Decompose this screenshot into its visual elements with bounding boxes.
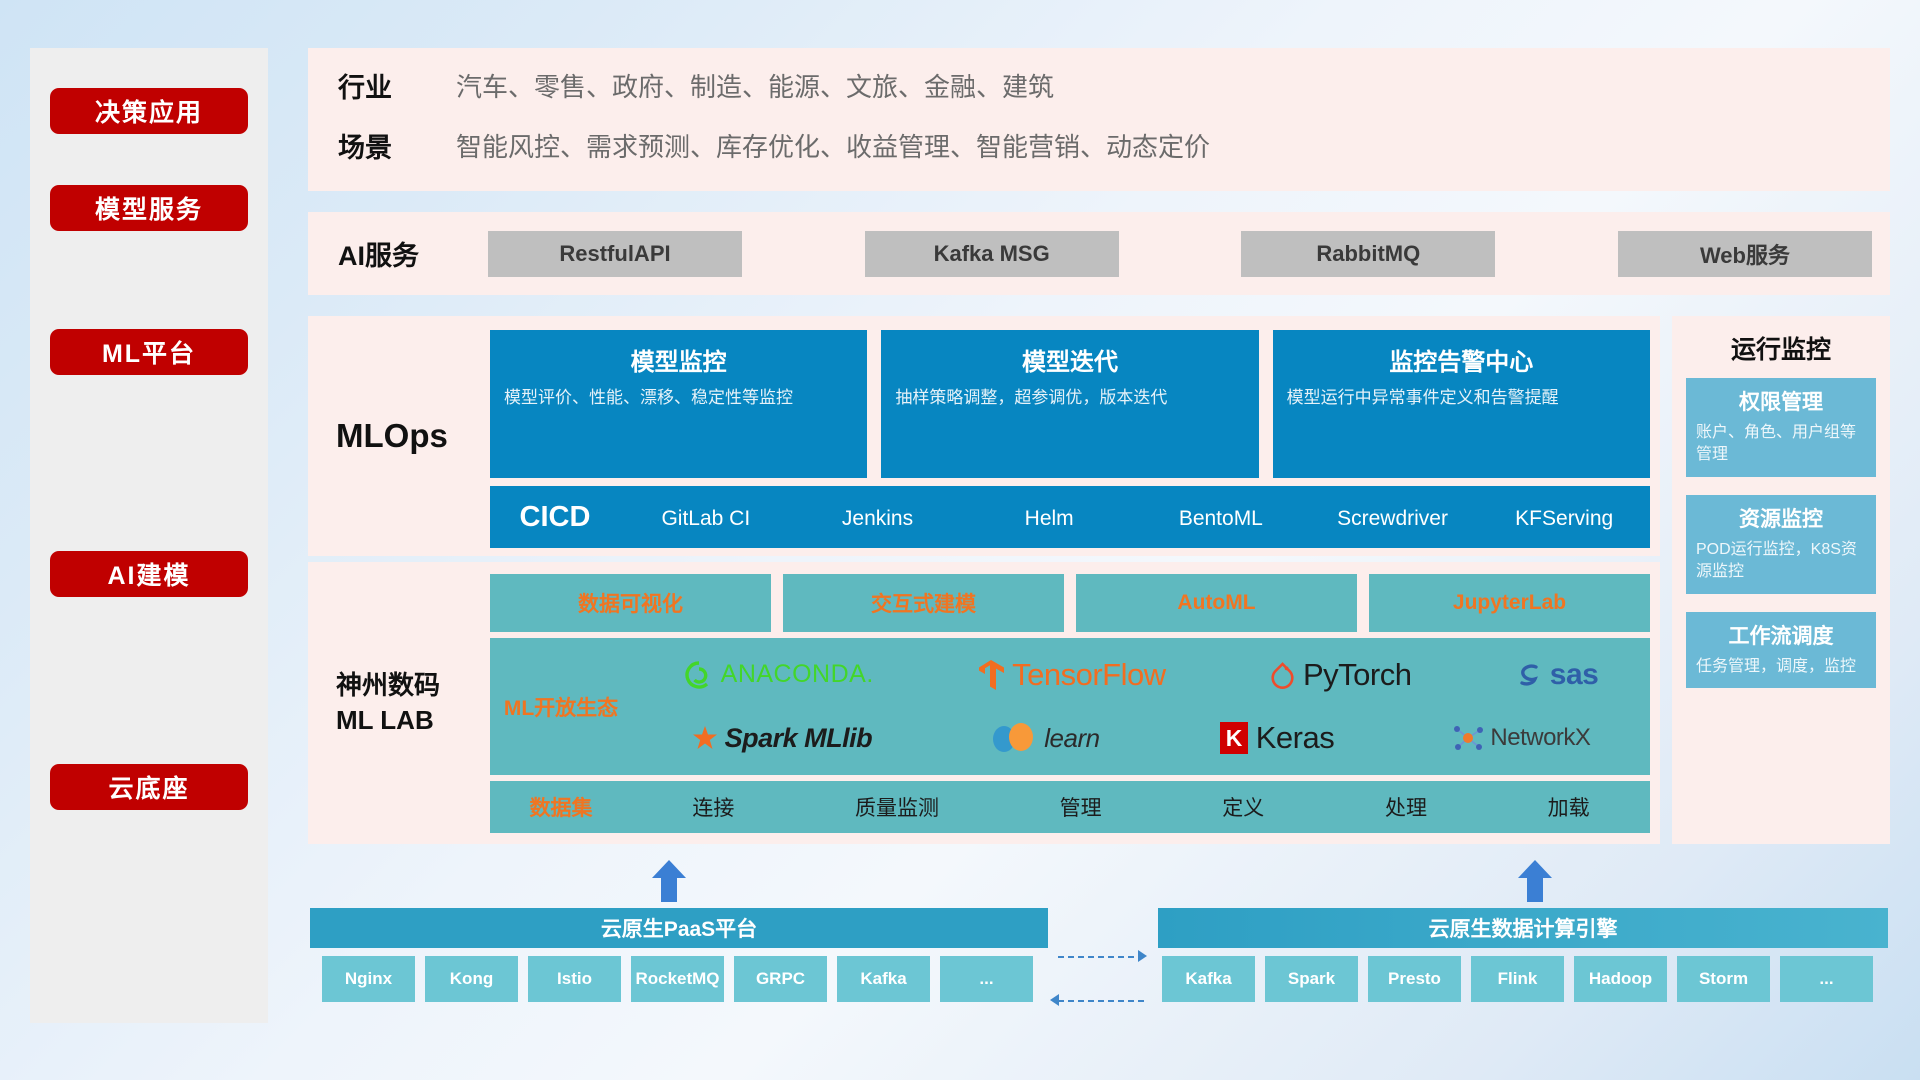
rail-chip-label: 决策应用	[95, 93, 203, 129]
cloud-chip-storm[interactable]: Storm	[1677, 956, 1770, 1002]
dataset-label: 数据集	[490, 792, 632, 822]
service-chip-label: Web服务	[1700, 238, 1790, 270]
dataset-item-quality[interactable]: 质量监测	[855, 792, 939, 822]
rail-chip-label: 云底座	[108, 769, 189, 805]
cicd-item-screwdriver[interactable]: Screwdriver	[1307, 506, 1479, 529]
ai-service-label: AI服务	[338, 212, 419, 295]
mlops-card-desc: 模型评价、性能、漂移、稳定性等监控	[504, 386, 853, 411]
pytorch-wordmark: PyTorch	[1303, 657, 1411, 693]
cicd-item-gitlab-ci[interactable]: GitLab CI	[620, 506, 792, 529]
ml-ecosystem-label: ML开放生态	[490, 692, 632, 722]
mlops-card-title: 模型监控	[504, 342, 853, 377]
modeling-tool-row: 数据可视化 交互式建模 AutoML JupyterLab	[490, 574, 1650, 632]
cloud-chip-nginx[interactable]: Nginx	[322, 956, 415, 1002]
sas-icon	[1515, 661, 1543, 689]
service-chip-label: RestfulAPI	[559, 241, 670, 267]
scenario-value: 智能风控、需求预测、库存优化、收益管理、智能营销、动态定价	[456, 127, 1210, 164]
arrow-up-paas	[652, 860, 686, 902]
dataset-item-manage[interactable]: 管理	[1060, 792, 1102, 822]
data-engine-header: 云原生数据计算引擎	[1158, 908, 1888, 948]
networkx-wordmark: NetworkX	[1490, 724, 1590, 752]
runtime-monitoring-title: 运行监控	[1672, 316, 1890, 378]
layer-rail: 决策应用 模型服务 ML平台 AI建模 云底座	[30, 48, 268, 1023]
rail-chip-ai-modeling[interactable]: AI建模	[50, 551, 248, 597]
pytorch-icon	[1269, 660, 1296, 690]
dataset-item-define[interactable]: 定义	[1222, 792, 1264, 822]
networkx-logo: NetworkX	[1453, 724, 1590, 752]
dataset-row: 数据集 连接 质量监测 管理 定义 处理 加载	[490, 781, 1650, 833]
sas-wordmark: sas	[1550, 658, 1599, 692]
cloud-chip-kong[interactable]: Kong	[425, 956, 518, 1002]
rail-chip-model-service[interactable]: 模型服务	[50, 185, 248, 231]
logo-line-1: ANACONDA. TensorFlow PyTorch	[632, 644, 1650, 706]
tensorflow-wordmark: TensorFlow	[1012, 657, 1166, 693]
cloud-chip-kafka[interactable]: Kafka	[837, 956, 930, 1002]
cicd-item-helm[interactable]: Helm	[963, 506, 1135, 529]
cicd-item-kfserving[interactable]: KFServing	[1478, 506, 1650, 529]
cloud-chip-more-2[interactable]: ...	[1780, 956, 1873, 1002]
cicd-item-bentoml[interactable]: BentoML	[1135, 506, 1307, 529]
mlops-card-title: 模型迭代	[895, 342, 1244, 377]
service-chip-label: RabbitMQ	[1316, 241, 1420, 267]
paas-platform-header: 云原生PaaS平台	[310, 908, 1048, 948]
arrow-up-data-engine	[1518, 860, 1552, 902]
architecture-diagram: 决策应用 模型服务 ML平台 AI建模 云底座 行业 汽车、零售、政府、制造、能…	[0, 0, 1920, 1080]
cloud-chip-kafka-2[interactable]: Kafka	[1162, 956, 1255, 1002]
tool-chip-jupyterlab[interactable]: JupyterLab	[1369, 574, 1650, 632]
mlops-card-model-iteration[interactable]: 模型迭代 抽样策略调整，超参调优，版本迭代	[881, 330, 1258, 478]
service-chip-restfulapi[interactable]: RestfulAPI	[488, 231, 742, 277]
tensorflow-logo: TensorFlow	[977, 657, 1166, 693]
tensorflow-icon	[977, 659, 1005, 691]
anaconda-logo: ANACONDA.	[684, 660, 874, 690]
mlops-label: MLOps	[336, 316, 448, 556]
industry-row: 行业 汽车、零售、政府、制造、能源、文旅、金融、建筑	[338, 66, 1054, 105]
mlops-card-desc: 模型运行中异常事件定义和告警提醒	[1287, 386, 1636, 411]
rail-chip-label: AI建模	[107, 556, 190, 592]
dashed-link-left	[1058, 1000, 1144, 1002]
monitor-card-title: 工作流调度	[1696, 620, 1866, 650]
keras-wordmark: Keras	[1256, 720, 1334, 756]
tool-chip-data-visualization[interactable]: 数据可视化	[490, 574, 771, 632]
cloud-chip-flink[interactable]: Flink	[1471, 956, 1564, 1002]
data-engine-chip-row: Kafka Spark Presto Flink Hadoop Storm ..…	[1162, 956, 1873, 1002]
monitor-card-desc: POD运行监控，K8S资源监控	[1696, 539, 1866, 584]
service-chip-kafka-msg[interactable]: Kafka MSG	[865, 231, 1119, 277]
cloud-chip-spark[interactable]: Spark	[1265, 956, 1358, 1002]
ai-service-band: AI服务 RestfulAPI Kafka MSG RabbitMQ Web服务	[308, 212, 1890, 295]
cloud-chip-more[interactable]: ...	[940, 956, 1033, 1002]
tool-chip-automl[interactable]: AutoML	[1076, 574, 1357, 632]
ml-lab-label-line1: 神州数码	[336, 668, 440, 703]
mlops-band: MLOps 模型监控 模型评价、性能、漂移、稳定性等监控 模型迭代 抽样策略调整…	[308, 316, 1660, 556]
service-chip-web-service[interactable]: Web服务	[1618, 231, 1872, 277]
dashed-arrowhead-right	[1138, 950, 1147, 962]
industry-key: 行业	[338, 66, 456, 105]
service-chip-label: Kafka MSG	[934, 241, 1050, 267]
rail-chip-label: ML平台	[102, 334, 196, 370]
keras-icon: K	[1219, 721, 1249, 755]
cloud-chip-istio[interactable]: Istio	[528, 956, 621, 1002]
monitor-card-resource[interactable]: 资源监控 POD运行监控，K8S资源监控	[1686, 495, 1876, 594]
mlops-card-desc: 抽样策略调整，超参调优，版本迭代	[895, 386, 1244, 411]
cloud-chip-hadoop[interactable]: Hadoop	[1574, 956, 1667, 1002]
sas-logo: sas	[1515, 658, 1599, 692]
rail-chip-label: 模型服务	[95, 190, 203, 226]
cicd-title: CICD	[490, 501, 620, 534]
logo-line-2: Spark MLlib learn K	[632, 708, 1650, 770]
mlops-card-alert-center[interactable]: 监控告警中心 模型运行中异常事件定义和告警提醒	[1273, 330, 1650, 478]
dataset-item-load[interactable]: 加载	[1548, 792, 1590, 822]
rail-chip-ml-platform[interactable]: ML平台	[50, 329, 248, 375]
dataset-item-list: 连接 质量监测 管理 定义 处理 加载	[632, 792, 1650, 822]
monitor-card-workflow[interactable]: 工作流调度 任务管理，调度，监控	[1686, 612, 1876, 688]
dashed-arrowhead-left	[1050, 994, 1059, 1006]
decision-apps-band: 行业 汽车、零售、政府、制造、能源、文旅、金融、建筑 场景 智能风控、需求预测、…	[308, 48, 1890, 191]
runtime-monitoring-column: 运行监控 权限管理 账户、角色、用户组等管理 资源监控 POD运行监控，K8S资…	[1672, 316, 1890, 844]
dataset-item-process[interactable]: 处理	[1385, 792, 1427, 822]
mlops-card-title: 监控告警中心	[1287, 342, 1636, 377]
cicd-bar: CICD GitLab CI Jenkins Helm BentoML Scre…	[490, 486, 1650, 548]
ml-lab-label: 神州数码 ML LAB	[336, 562, 440, 844]
spark-star-icon	[692, 725, 718, 751]
ai-service-chip-grid: RestfulAPI Kafka MSG RabbitMQ Web服务	[488, 212, 1872, 295]
scikit-learn-logo: learn	[991, 722, 1099, 754]
networkx-icon	[1453, 724, 1483, 752]
ml-lab-label-line2: ML LAB	[336, 703, 440, 738]
service-chip-rabbitmq[interactable]: RabbitMQ	[1241, 231, 1495, 277]
monitor-card-desc: 账户、角色、用户组等管理	[1696, 422, 1866, 467]
scenario-row: 场景 智能风控、需求预测、库存优化、收益管理、智能营销、动态定价	[338, 126, 1210, 165]
svg-text:K: K	[1225, 725, 1242, 751]
monitor-card-title: 资源监控	[1696, 503, 1866, 533]
mlops-card-model-monitoring[interactable]: 模型监控 模型评价、性能、漂移、稳定性等监控	[490, 330, 867, 478]
tool-chip-interactive-modeling[interactable]: 交互式建模	[783, 574, 1064, 632]
industry-value: 汽车、零售、政府、制造、能源、文旅、金融、建筑	[456, 67, 1054, 104]
keras-logo: K Keras	[1219, 720, 1334, 756]
ai-modeling-band: 神州数码 ML LAB 数据可视化 交互式建模 AutoML JupyterLa…	[308, 562, 1660, 844]
rail-chip-decision-apps[interactable]: 决策应用	[50, 88, 248, 134]
mlops-card-group: 模型监控 模型评价、性能、漂移、稳定性等监控 模型迭代 抽样策略调整，超参调优，…	[490, 330, 1650, 478]
scikit-learn-wordmark: learn	[1044, 723, 1099, 754]
ml-ecosystem-row: ML开放生态 ANACONDA. TensorFlow	[490, 638, 1650, 775]
ml-ecosystem-logos: ANACONDA. TensorFlow PyTorch	[632, 638, 1650, 775]
anaconda-wordmark: ANACONDA.	[721, 660, 874, 689]
dataset-item-connect[interactable]: 连接	[692, 792, 734, 822]
anaconda-icon	[684, 660, 714, 690]
cicd-item-jenkins[interactable]: Jenkins	[792, 506, 964, 529]
spark-mllib-wordmark: Spark MLlib	[725, 723, 873, 754]
scenario-key: 场景	[338, 126, 456, 165]
cloud-chip-rocketmq[interactable]: RocketMQ	[631, 956, 724, 1002]
pytorch-logo: PyTorch	[1269, 657, 1411, 693]
paas-chip-row: Nginx Kong Istio RocketMQ GRPC Kafka ...	[322, 956, 1033, 1002]
spark-mllib-logo: Spark MLlib	[692, 723, 873, 754]
rail-chip-cloud-base[interactable]: 云底座	[50, 764, 248, 810]
monitor-card-title: 权限管理	[1696, 386, 1866, 416]
monitor-card-permission[interactable]: 权限管理 账户、角色、用户组等管理	[1686, 378, 1876, 477]
cloud-chip-grpc[interactable]: GRPC	[734, 956, 827, 1002]
scikit-learn-icon	[991, 722, 1037, 754]
dashed-link-right	[1058, 956, 1144, 958]
monitor-card-desc: 任务管理，调度，监控	[1696, 656, 1866, 678]
cicd-item-list: GitLab CI Jenkins Helm BentoML Screwdriv…	[620, 506, 1650, 529]
cloud-chip-presto[interactable]: Presto	[1368, 956, 1461, 1002]
